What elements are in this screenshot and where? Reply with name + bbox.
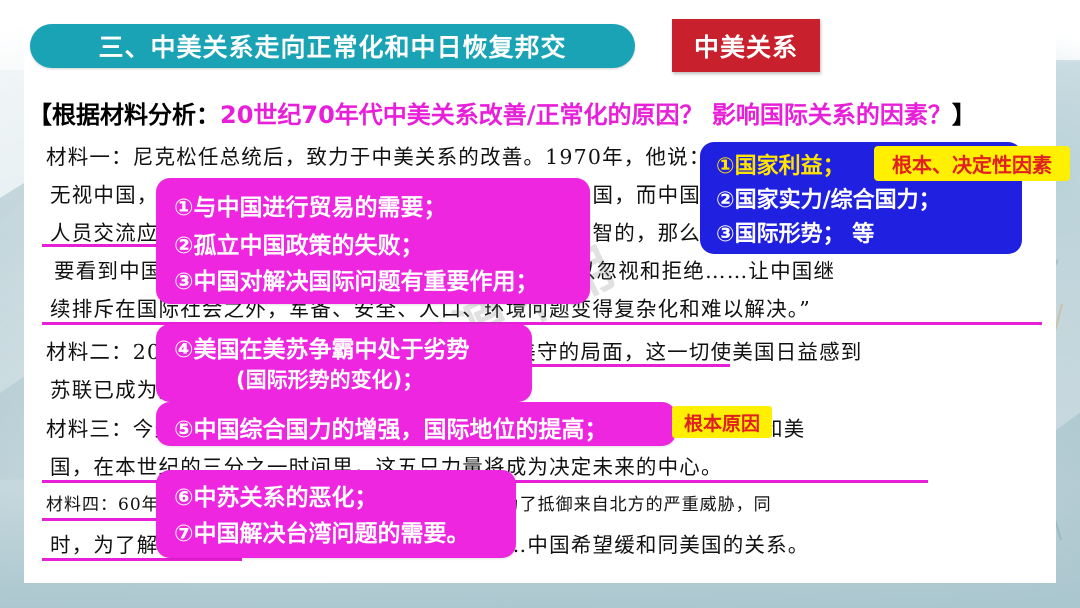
- section-title-text: 三、中美关系走向正常化和中日恢复邦交: [98, 28, 566, 64]
- answer-line: ④美国在美苏争霸中处于劣势: [174, 330, 469, 364]
- prompt-lead: 根据材料分析：: [52, 95, 220, 130]
- prompt-question: 20世纪70年代中美关系改善/正常化的原因？ 影响国际关系的因素？: [220, 95, 952, 130]
- underline-mark: [42, 558, 242, 561]
- factor-line-highlighted: ①国家利益；: [716, 148, 845, 180]
- factor-line: ③国际形势； 等: [716, 216, 874, 248]
- tag-root-decisive: 根本、决定性因素: [874, 146, 1070, 181]
- prompt-bracket-close: 】: [952, 95, 976, 130]
- answer-line: ⑤中国综合国力的增强，国际地位的提高；: [174, 410, 607, 444]
- tag-root-cause: 根本原因: [672, 406, 772, 438]
- answer-box-3: ⑤中国综合国力的增强，国际地位的提高；: [156, 402, 676, 446]
- answer-box-1: ①与中国进行贸易的需要； ②孤立中国政策的失败； ③中国对解决国际问题有重要作用…: [156, 178, 590, 304]
- answer-line: ⑥中苏关系的恶化；: [174, 478, 377, 512]
- analysis-prompt: 【 根据材料分析： 20世纪70年代中美关系改善/正常化的原因？ 影响国际关系的…: [28, 95, 1048, 129]
- answer-box-2: ④美国在美苏争霸中处于劣势 (国际形势的变化)；: [156, 324, 532, 402]
- answer-line: ⑦中国解决台湾问题的需要。: [174, 514, 469, 548]
- answer-line: ③中国对解决国际问题有重要作用；: [174, 262, 538, 296]
- underline-mark: [490, 322, 990, 325]
- topic-badge: 中美关系: [672, 19, 820, 72]
- slide-canvas: 三、中美关系走向正常化和中日恢复邦交 中美关系 【 根据材料分析： 20世纪70…: [0, 0, 1080, 608]
- material-line: 材料一：尼克松任总统后，致力于中美关系的改善。1970年，他说：“我们必须: [46, 140, 809, 170]
- answer-box-4: ⑥中苏关系的恶化； ⑦中国解决台湾问题的需要。: [156, 470, 516, 558]
- answer-line: (国际形势的变化)；: [236, 364, 423, 394]
- prompt-bracket-open: 【: [28, 95, 52, 130]
- topic-badge-text: 中美关系: [694, 28, 798, 64]
- factor-line: ②国家实力/综合国力；: [716, 182, 941, 214]
- answer-line: ①与中国进行贸易的需要；: [174, 188, 446, 222]
- answer-line: ②孤立中国政策的失败；: [174, 226, 423, 260]
- section-title-pill: 三、中美关系走向正常化和中日恢复邦交: [30, 24, 635, 68]
